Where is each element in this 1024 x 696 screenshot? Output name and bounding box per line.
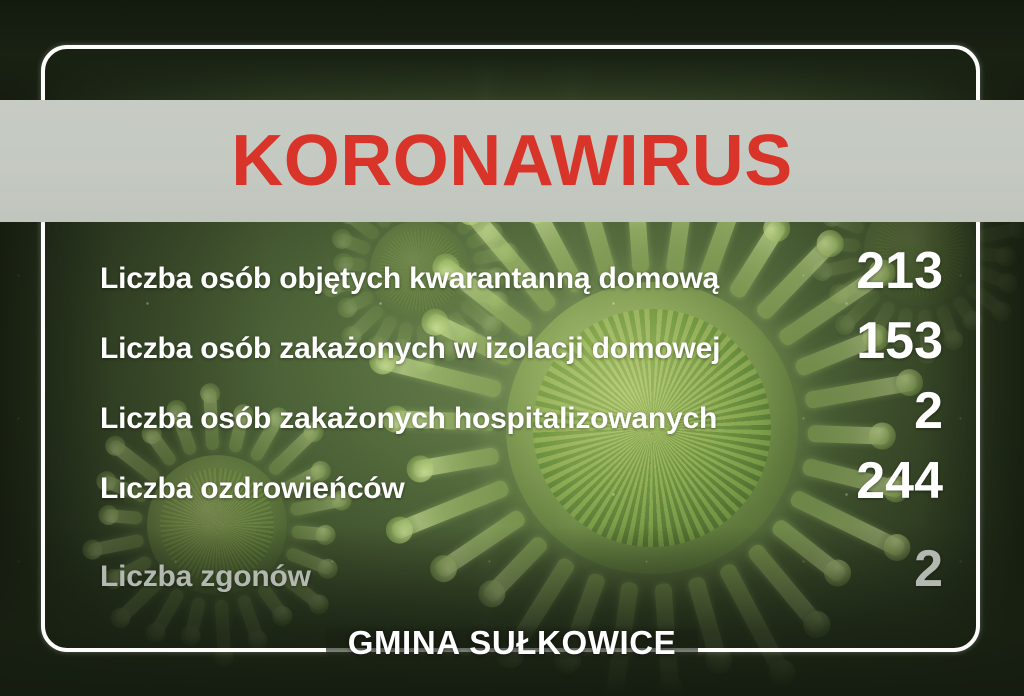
stat-value: 213 — [856, 245, 943, 297]
stat-label: Liczba osób zakażonych hospitalizowanych — [100, 402, 717, 436]
stat-label: Liczba osób objętych kwarantanną domową — [100, 262, 719, 296]
stat-label: Liczba ozdrowieńców — [100, 472, 405, 506]
stat-value: 244 — [856, 455, 943, 507]
stat-label: Liczba zgonów — [100, 560, 311, 594]
footer: GMINA SUŁKOWICE — [0, 624, 1024, 662]
statistics-list: Liczba osób objętych kwarantanną domową … — [100, 245, 943, 613]
municipality-name: GMINA SUŁKOWICE — [326, 624, 699, 662]
stat-value: 2 — [914, 385, 943, 437]
stat-row: Liczba osób zakażonych hospitalizowanych… — [100, 385, 943, 437]
stat-label: Liczba osób zakażonych w izolacji domowe… — [100, 332, 720, 366]
stat-value: 153 — [856, 315, 943, 367]
koronawirus-poster: KORONAWIRUS Liczba osób objętych kwarant… — [0, 0, 1024, 696]
stat-row: Liczba osób zakażonych w izolacji domowe… — [100, 315, 943, 367]
title-band: KORONAWIRUS — [0, 100, 1024, 222]
stat-row: Liczba zgonów 2 — [100, 543, 943, 595]
stat-row: Liczba ozdrowieńców 244 — [100, 455, 943, 507]
page-title: KORONAWIRUS — [231, 125, 793, 197]
stat-value: 2 — [914, 543, 943, 595]
stat-row: Liczba osób objętych kwarantanną domową … — [100, 245, 943, 297]
